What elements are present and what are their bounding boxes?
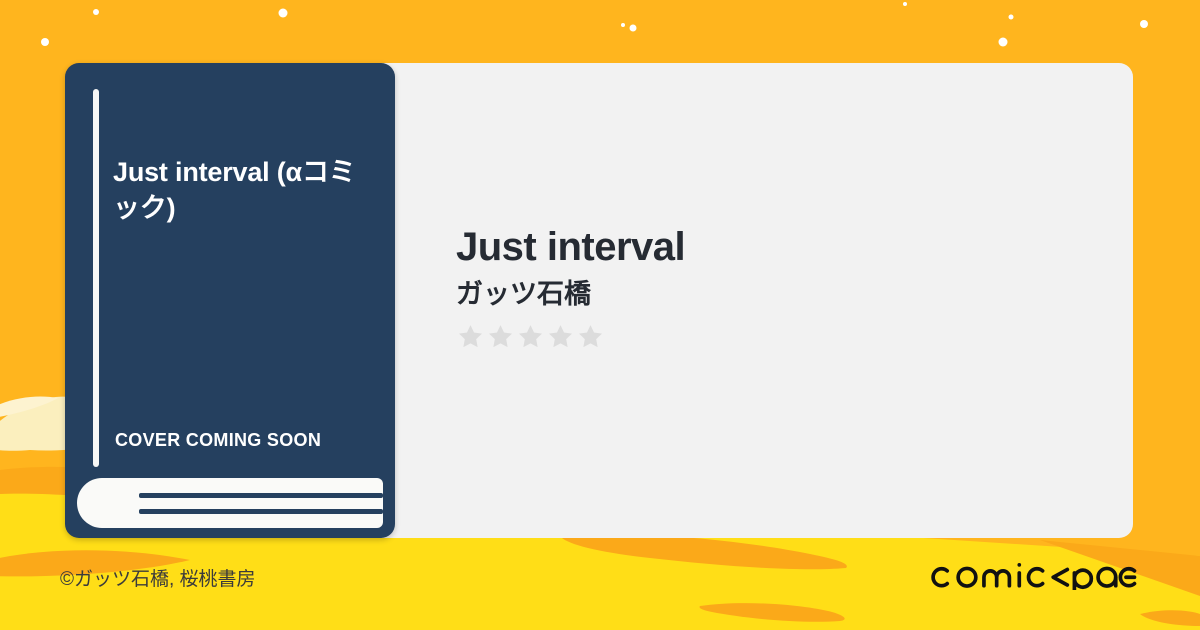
book-cover-title: Just interval (αコミック) <box>113 155 375 226</box>
book-cover-placeholder[interactable]: Just interval (αコミック) COVER COMING SOON <box>65 63 395 538</box>
dot-2 <box>93 9 99 15</box>
book-cover-placeholder-label: COVER COMING SOON <box>115 430 321 451</box>
page-line-1 <box>139 493 383 498</box>
dot-6 <box>1009 15 1014 20</box>
star-icon[interactable] <box>546 322 575 351</box>
book-spine-line <box>93 89 99 467</box>
dot-3 <box>279 9 288 18</box>
work-author[interactable]: ガッツ石橋 <box>456 278 685 310</box>
dot-1 <box>41 38 49 46</box>
book-cover-body <box>65 63 395 538</box>
rating-stars[interactable] <box>456 322 685 351</box>
work-title: Just interval <box>456 224 685 270</box>
dot-8 <box>1140 20 1148 28</box>
star-icon[interactable] <box>486 322 515 351</box>
work-detail: Just interval ガッツ石橋 <box>456 224 685 351</box>
copyright-text: ©ガッツ石橋, 桜桃書房 <box>60 564 256 591</box>
dot-7 <box>999 38 1008 47</box>
comicspace-logo[interactable] <box>926 556 1138 590</box>
star-icon[interactable] <box>516 322 545 351</box>
star-icon[interactable] <box>576 322 605 351</box>
dot-4 <box>630 25 637 32</box>
page-line-2 <box>139 509 383 514</box>
book-pages-icon <box>77 478 383 528</box>
star-icon[interactable] <box>456 322 485 351</box>
dot-5 <box>621 23 625 27</box>
dot-9 <box>903 2 907 6</box>
